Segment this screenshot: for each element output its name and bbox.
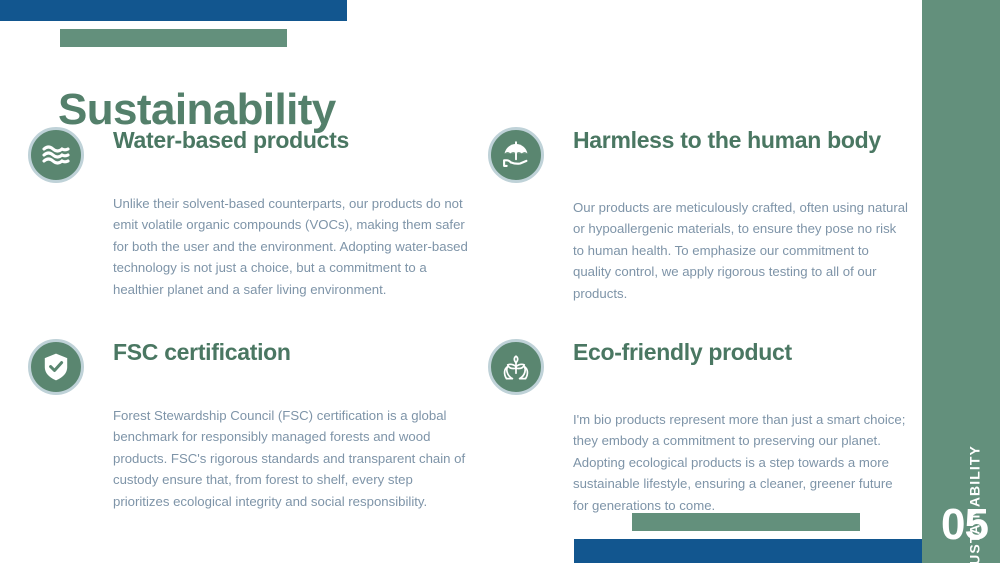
feature-card-harmless-to-the-human-body: Harmless to the human body Our products …: [488, 125, 908, 304]
feature-header: Eco-friendly product: [488, 337, 908, 395]
feature-title: FSC certification: [28, 337, 468, 367]
slide-canvas: Sustainability Water-based products Unli…: [0, 0, 1000, 563]
feature-grid: Water-based products Unlike their solven…: [0, 125, 922, 510]
feature-title: Water-based products: [28, 125, 468, 155]
feature-title: Harmless to the human body: [488, 125, 908, 155]
decorative-bar-bottom-green: [632, 513, 860, 531]
feature-body: I'm bio products represent more than jus…: [488, 395, 908, 516]
feature-body: Our products are meticulously crafted, o…: [488, 183, 908, 304]
umbrella-hand-icon: [488, 127, 544, 183]
feature-body: Forest Stewardship Council (FSC) certifi…: [28, 395, 468, 512]
feature-header: Water-based products: [28, 125, 468, 183]
water-waves-icon: [28, 127, 84, 183]
decorative-bar-bottom-blue: [574, 539, 922, 563]
feature-card-fsc-certification: FSC certification Forest Stewardship Cou…: [28, 337, 468, 512]
feature-header: Harmless to the human body: [488, 125, 908, 183]
shield-check-icon: [28, 339, 84, 395]
feature-card-eco-friendly-product: Eco-friendly product I'm bio products re…: [488, 337, 908, 516]
sidebar: SUSTAINABILITY 05: [922, 0, 1000, 563]
feature-title: Eco-friendly product: [488, 337, 908, 367]
feature-card-water-based-products: Water-based products Unlike their solven…: [28, 125, 468, 300]
decorative-bar-top-green: [60, 29, 287, 47]
plant-hands-icon: [488, 339, 544, 395]
feature-body: Unlike their solvent-based counterparts,…: [28, 183, 468, 300]
feature-header: FSC certification: [28, 337, 468, 395]
page-number: 05: [941, 503, 988, 547]
decorative-bar-top-blue: [0, 0, 347, 21]
